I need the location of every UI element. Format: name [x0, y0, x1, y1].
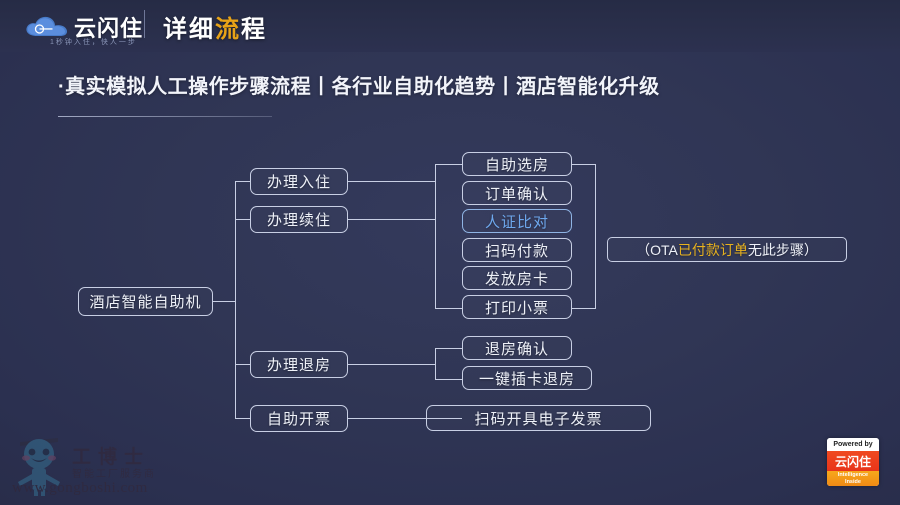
badge-intelligence: Intelligence Inside [827, 471, 879, 486]
connector-checkout-to-steps [348, 364, 435, 365]
connector-renew-to-steps [348, 219, 435, 220]
connector-trunk-to-checkin [235, 181, 250, 182]
page-title-part2: 程 [241, 16, 267, 43]
badge-line2: Inside [845, 479, 861, 486]
badge-line1: Intelligence [838, 472, 868, 479]
flow-step-select-room[interactable]: 自助选房 [462, 152, 572, 176]
flow-node-branch-renew[interactable]: 办理续住 [250, 206, 348, 233]
flow-step-checkout-confirm[interactable]: 退房确认 [462, 336, 572, 360]
connector-trunk-to-checkout [235, 364, 250, 365]
flow-note-suffix: 无此步骤） [748, 240, 818, 260]
flow-step-scan-pay[interactable]: 扫码付款 [462, 238, 572, 262]
connector-checkout-bracket [435, 348, 436, 379]
brand-slogan: 1秒钟入住，快人一步 [50, 37, 137, 47]
powered-by-badge: Powered by 云闪住 Intelligence Inside [827, 438, 879, 486]
flow-node-root[interactable]: 酒店智能自助机 [78, 287, 213, 316]
subtitle-rule [58, 116, 272, 117]
page-title-part1: 详细 [163, 16, 215, 43]
flow-note-ota: （OTA已付款订单无此步骤） [607, 237, 847, 262]
flow-node-branch-checkout[interactable]: 办理退房 [250, 351, 348, 378]
connector-steps-bracket-bottom [435, 308, 462, 309]
flow-step-print-receipt[interactable]: 打印小票 [462, 295, 572, 319]
watermark-tagline: 智能工厂服务商 [72, 465, 156, 480]
connector-checkout-bracket-bottom [435, 379, 462, 380]
subtitle: ·真实模拟人工操作步骤流程丨各行业自助化趋势丨酒店智能化升级 [58, 70, 660, 99]
slide-header: 云闪住 1秒钟入住，快人一步 详细流程 [0, 0, 900, 52]
connector-trunk-to-invoice [235, 418, 250, 419]
badge-brand: 云闪住 [827, 451, 879, 471]
watermark-url: www.gongboshi.com [12, 480, 148, 497]
flow-note-gold: 已付款订单 [678, 240, 748, 260]
connector-checkin-to-steps [348, 181, 435, 182]
connector-steps-right-top [572, 164, 595, 165]
page-title-accent: 流 [215, 16, 241, 43]
page-title: 详细流程 [163, 9, 267, 44]
flow-step-order-confirm[interactable]: 订单确认 [462, 181, 572, 205]
flow-step-id-verify[interactable]: 人证比对 [462, 209, 572, 233]
flow-step-scan-einvoice[interactable]: 扫码开具电子发票 [426, 405, 651, 431]
flow-step-issue-keycard[interactable]: 发放房卡 [462, 266, 572, 290]
connector-steps-right-bracket [595, 164, 596, 309]
connector-steps-bracket-top [435, 164, 462, 165]
header-divider [144, 10, 145, 38]
brand-logo: 云闪住 1秒钟入住，快人一步 [22, 5, 162, 49]
connector-steps-left-bracket [435, 164, 436, 309]
watermark: 工博士 智能工厂服务商 www.gongboshi.com [6, 430, 186, 502]
connector-checkout-bracket-top [435, 348, 462, 349]
flow-node-branch-invoice[interactable]: 自助开票 [250, 405, 348, 432]
badge-powered-label: Powered by [827, 438, 879, 451]
flow-node-branch-checkin[interactable]: 办理入住 [250, 168, 348, 195]
flow-note-prefix: （OTA [636, 240, 678, 260]
connector-trunk-to-renew [235, 219, 250, 220]
connector-main-trunk [235, 181, 236, 418]
connector-root-stub [213, 301, 235, 302]
flow-step-one-key-checkout[interactable]: 一键插卡退房 [462, 366, 592, 390]
slide-canvas: 云闪住 1秒钟入住，快人一步 详细流程 ·真实模拟人工操作步骤流程丨各行业自助化… [0, 0, 900, 505]
connector-steps-right-bottom [572, 308, 595, 309]
